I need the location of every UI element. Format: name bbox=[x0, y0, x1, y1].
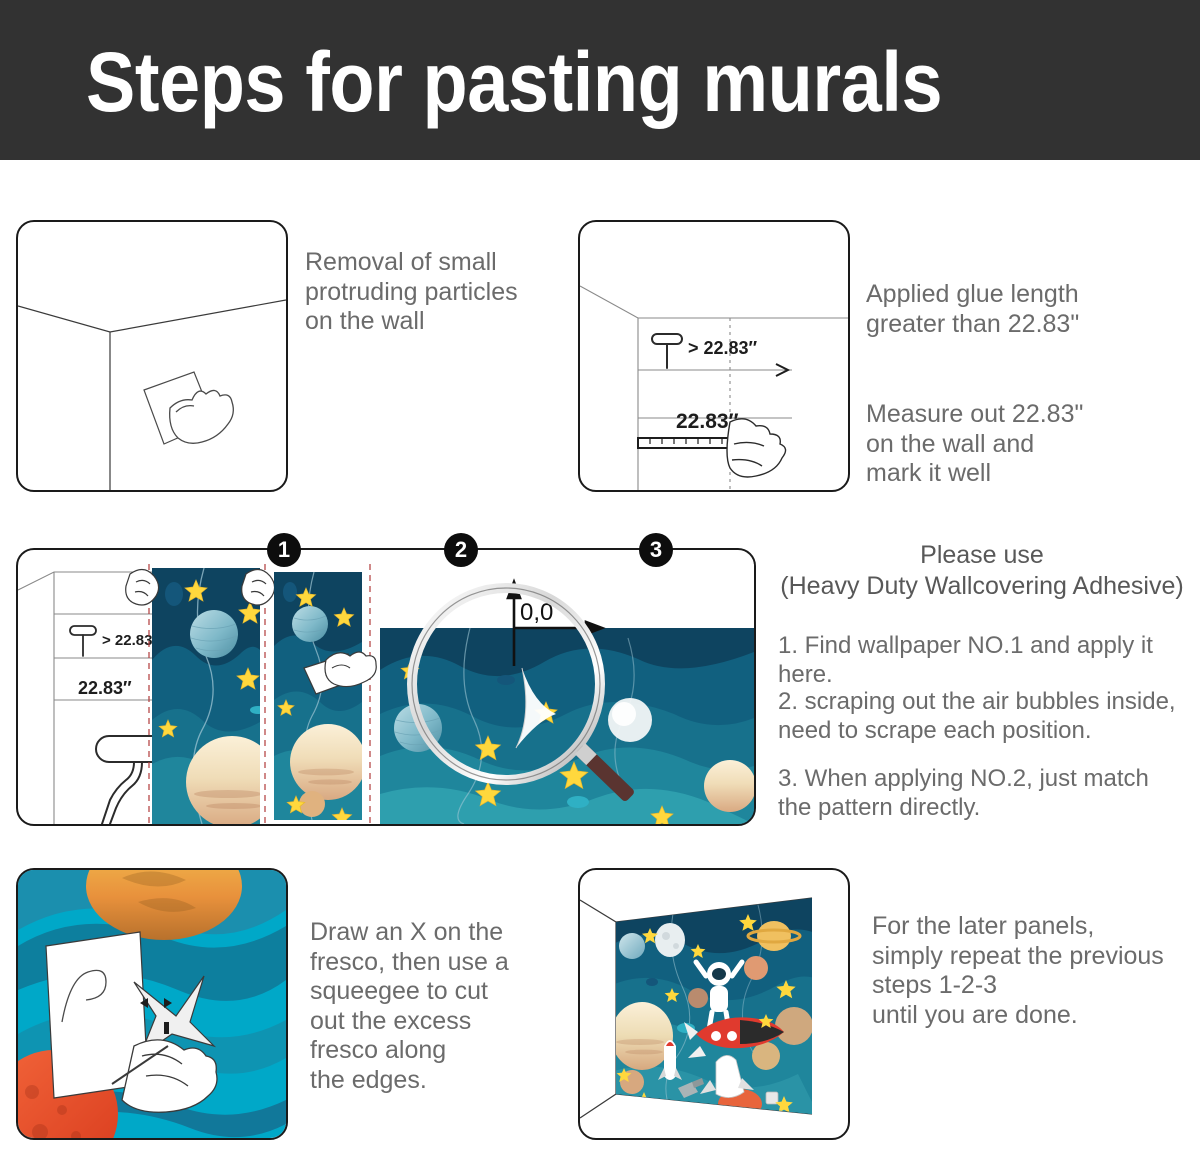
mural-artwork bbox=[610, 890, 824, 1126]
hand-pulling-tape-icon bbox=[727, 419, 786, 477]
small-roller-icon bbox=[70, 626, 96, 656]
paste-steps-illustration: > 22.83″ 22.83″ bbox=[18, 550, 754, 824]
hand-right-strip1 bbox=[242, 569, 275, 605]
panel-remove-particles bbox=[16, 220, 288, 492]
hand-left-strip1 bbox=[126, 569, 159, 605]
page-title: Steps for pasting murals bbox=[86, 40, 942, 124]
cut-excess-illustration bbox=[18, 870, 286, 1138]
finished-mural-illustration bbox=[580, 870, 848, 1138]
glue-roller-icon bbox=[652, 334, 682, 368]
page-header: Steps for pasting murals bbox=[0, 0, 1200, 160]
step-badge-2: 2 bbox=[444, 533, 478, 567]
caption-draw-x: Draw an X on the fresco, then use a sque… bbox=[310, 918, 570, 1095]
instruction-3: 3. When applying NO.2, just match the pa… bbox=[778, 765, 1198, 823]
mid-glue-length-label: > 22.83″ bbox=[102, 632, 160, 649]
step-badge-3: 3 bbox=[639, 533, 673, 567]
instruction-1: 1. Find wallpaper NO.1 and apply it here… bbox=[778, 632, 1198, 690]
panel-middle-steps: > 22.83″ 22.83″ bbox=[16, 548, 756, 826]
adhesive-note: Please use (Heavy Duty Wallcovering Adhe… bbox=[772, 540, 1192, 601]
panel-draw-x bbox=[16, 868, 288, 1140]
panel-repeat-steps bbox=[578, 868, 850, 1140]
mural-strip-3 bbox=[380, 628, 754, 824]
caption-repeat-steps: For the later panels, simply repeat the … bbox=[872, 912, 1200, 1030]
wall-glue-measure-illustration: > 22.83″ 22.83″ bbox=[580, 222, 848, 490]
glue-length-label: > 22.83″ bbox=[688, 338, 758, 358]
instruction-2: 2. scraping out the air bubbles inside, … bbox=[778, 688, 1198, 746]
caption-apply-glue: Applied glue length greater than 22.83" bbox=[866, 280, 1166, 339]
caption-remove-particles: Removal of small protruding particles on… bbox=[305, 248, 565, 337]
caption-measure-wall: Measure out 22.83" on the wall and mark … bbox=[866, 400, 1166, 489]
mural-strip-2 bbox=[274, 572, 366, 824]
mural-strip-1 bbox=[152, 568, 278, 824]
panel-apply-glue: > 22.83″ 22.83″ bbox=[578, 220, 850, 492]
wall-corner-scrape-illustration bbox=[18, 222, 286, 490]
mid-measure-label: 22.83″ bbox=[78, 678, 132, 698]
step-badge-1: 1 bbox=[267, 533, 301, 567]
tape-measure-icon bbox=[638, 438, 730, 448]
